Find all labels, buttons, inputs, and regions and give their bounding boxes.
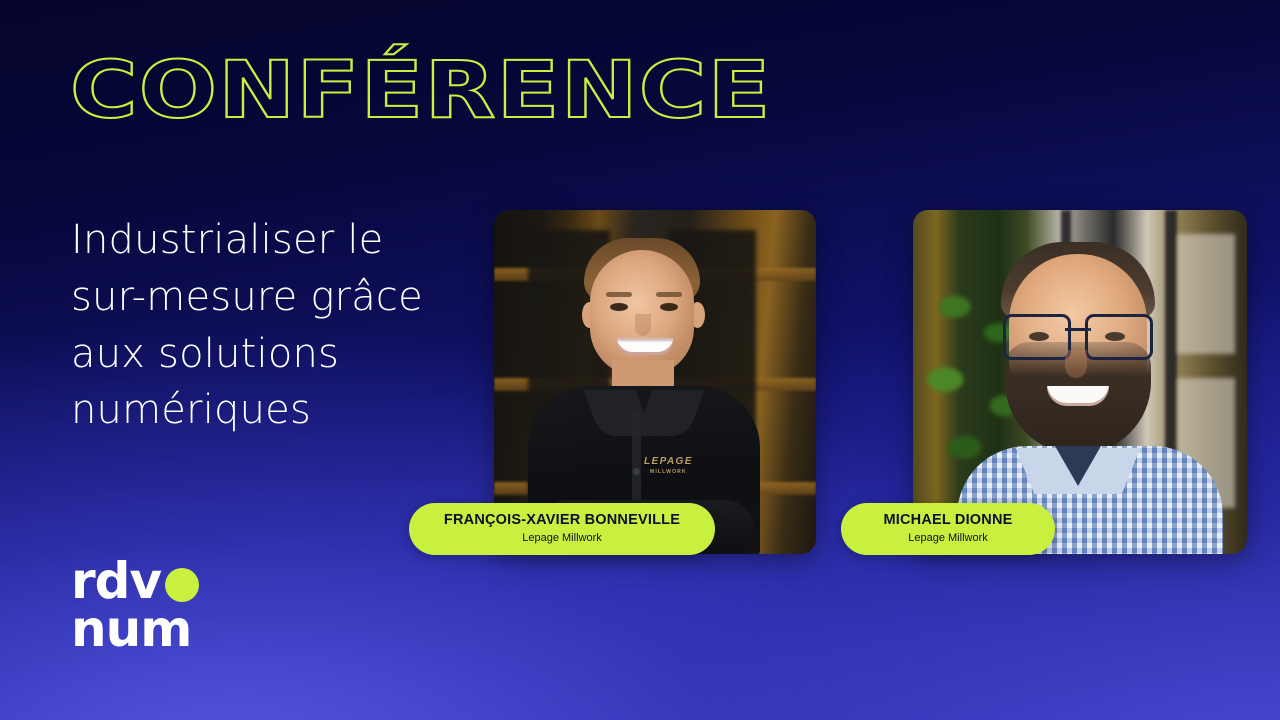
photo1-nose: [635, 314, 651, 336]
shirt-logo-main: LEPAGE: [644, 456, 693, 467]
conference-slide: CONFÉRENCE Industrialiser le sur-mesure …: [0, 0, 1280, 720]
photo1-smile: [616, 338, 674, 355]
logo-text-rdv: rdv: [71, 557, 161, 605]
photo1-button: [633, 468, 640, 475]
photo2-glasses-icon: [1003, 314, 1153, 354]
photo1-brow-right: [656, 292, 682, 297]
logo-text-num: num: [71, 605, 199, 653]
speaker-name-badge-1: FRANÇOIS-XAVIER BONNEVILLE Lepage Millwo…: [409, 503, 715, 555]
speaker-name: FRANÇOIS-XAVIER BONNEVILLE: [409, 513, 715, 529]
speaker-org: Lepage Millwork: [841, 532, 1055, 544]
speaker-name-badge-2: MICHAEL DIONNE Lepage Millwork: [841, 503, 1055, 555]
photo1-shirt-logo: LEPAGE MILLWORK: [644, 456, 693, 475]
page-title: CONFÉRENCE: [70, 52, 772, 130]
photo1-brow-left: [606, 292, 632, 297]
logo-line-1: rdv: [71, 557, 199, 605]
speaker-name: MICHAEL DIONNE: [841, 513, 1055, 529]
speaker-org: Lepage Millwork: [409, 532, 715, 544]
logo-dot-icon: [165, 568, 199, 602]
photo2-nose: [1065, 350, 1087, 378]
headline-text: Industrialiser le sur-mesure grâce aux s…: [71, 212, 471, 439]
shirt-logo-sub: MILLWORK: [644, 469, 693, 475]
photo1-face: [590, 250, 694, 376]
rdvnum-logo: rdv num: [71, 557, 199, 653]
photo1-eye-left: [610, 303, 628, 311]
photo1-eye-right: [660, 303, 678, 311]
